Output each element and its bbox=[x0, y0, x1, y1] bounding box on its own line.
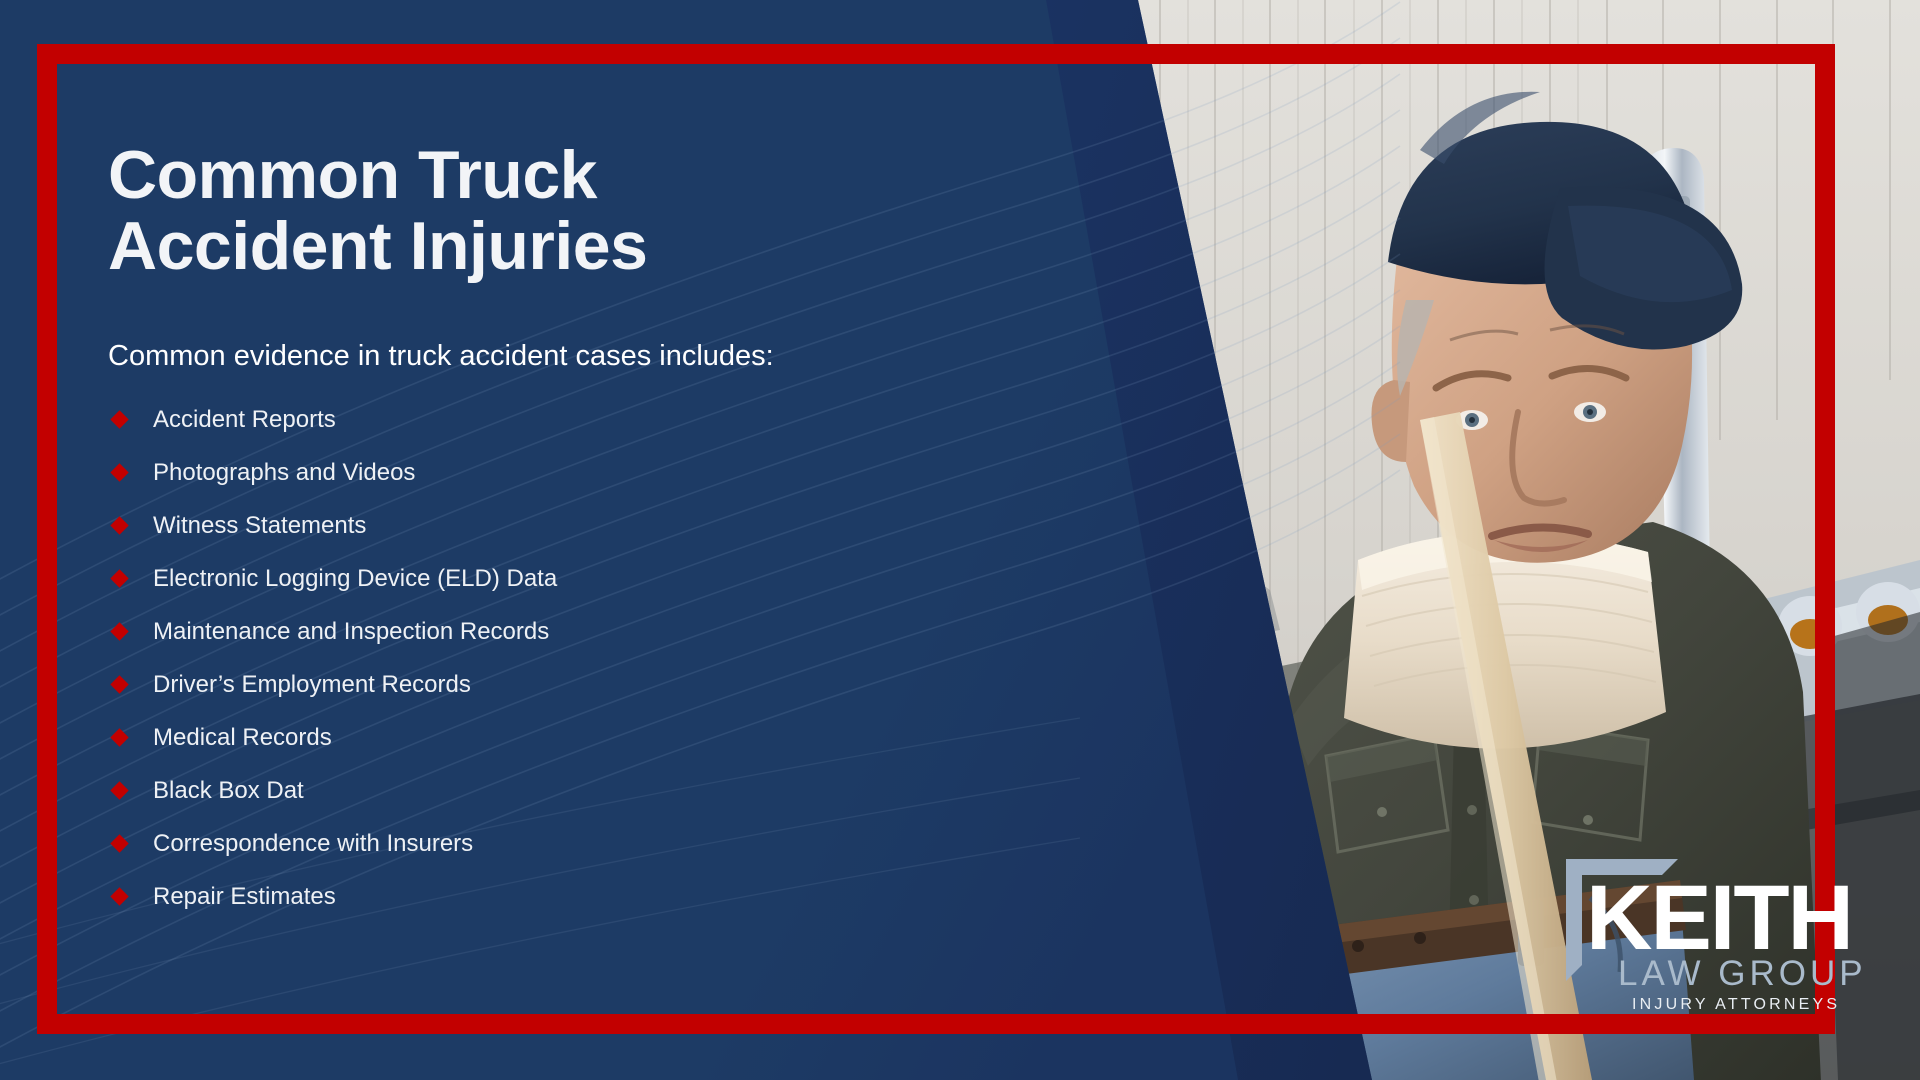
list-item-label: Electronic Logging Device (ELD) Data bbox=[153, 565, 557, 592]
evidence-list: Accident Reports Photographs and Videos … bbox=[108, 408, 1118, 909]
list-item: Repair Estimates bbox=[108, 885, 1118, 909]
diamond-bullet-icon bbox=[110, 464, 128, 482]
page-title: Common Truck Accident Injuries bbox=[108, 140, 1118, 281]
hero-photo bbox=[1120, 0, 1920, 1080]
slide-canvas: Common Truck Accident Injuries Common ev… bbox=[0, 0, 1920, 1080]
list-item: Accident Reports bbox=[108, 408, 1118, 432]
diamond-bullet-icon bbox=[110, 676, 128, 694]
list-item-label: Accident Reports bbox=[153, 406, 336, 433]
subheading: Common evidence in truck accident cases … bbox=[108, 339, 1118, 374]
list-item: Black Box Dat bbox=[108, 779, 1118, 803]
diamond-bullet-icon bbox=[110, 517, 128, 535]
diamond-bullet-icon bbox=[110, 623, 128, 641]
list-item-label: Correspondence with Insurers bbox=[153, 830, 473, 857]
list-item: Electronic Logging Device (ELD) Data bbox=[108, 567, 1118, 591]
diamond-bullet-icon bbox=[110, 570, 128, 588]
list-item: Witness Statements bbox=[108, 514, 1118, 538]
diamond-bullet-icon bbox=[110, 835, 128, 853]
diamond-bullet-icon bbox=[110, 782, 128, 800]
list-item-label: Repair Estimates bbox=[153, 883, 336, 910]
text-content-block: Common Truck Accident Injuries Common ev… bbox=[108, 140, 1118, 938]
list-item: Correspondence with Insurers bbox=[108, 832, 1118, 856]
list-item: Medical Records bbox=[108, 726, 1118, 750]
list-item-label: Medical Records bbox=[153, 724, 332, 751]
list-item-label: Black Box Dat bbox=[153, 777, 304, 804]
list-item: Photographs and Videos bbox=[108, 461, 1118, 485]
list-item-label: Witness Statements bbox=[153, 512, 366, 539]
diamond-bullet-icon bbox=[110, 729, 128, 747]
diamond-bullet-icon bbox=[110, 411, 128, 429]
list-item-label: Maintenance and Inspection Records bbox=[153, 618, 549, 645]
list-item: Maintenance and Inspection Records bbox=[108, 620, 1118, 644]
list-item-label: Photographs and Videos bbox=[153, 459, 415, 486]
list-item-label: Driver’s Employment Records bbox=[153, 671, 471, 698]
list-item: Driver’s Employment Records bbox=[108, 673, 1118, 697]
diamond-bullet-icon bbox=[110, 888, 128, 906]
